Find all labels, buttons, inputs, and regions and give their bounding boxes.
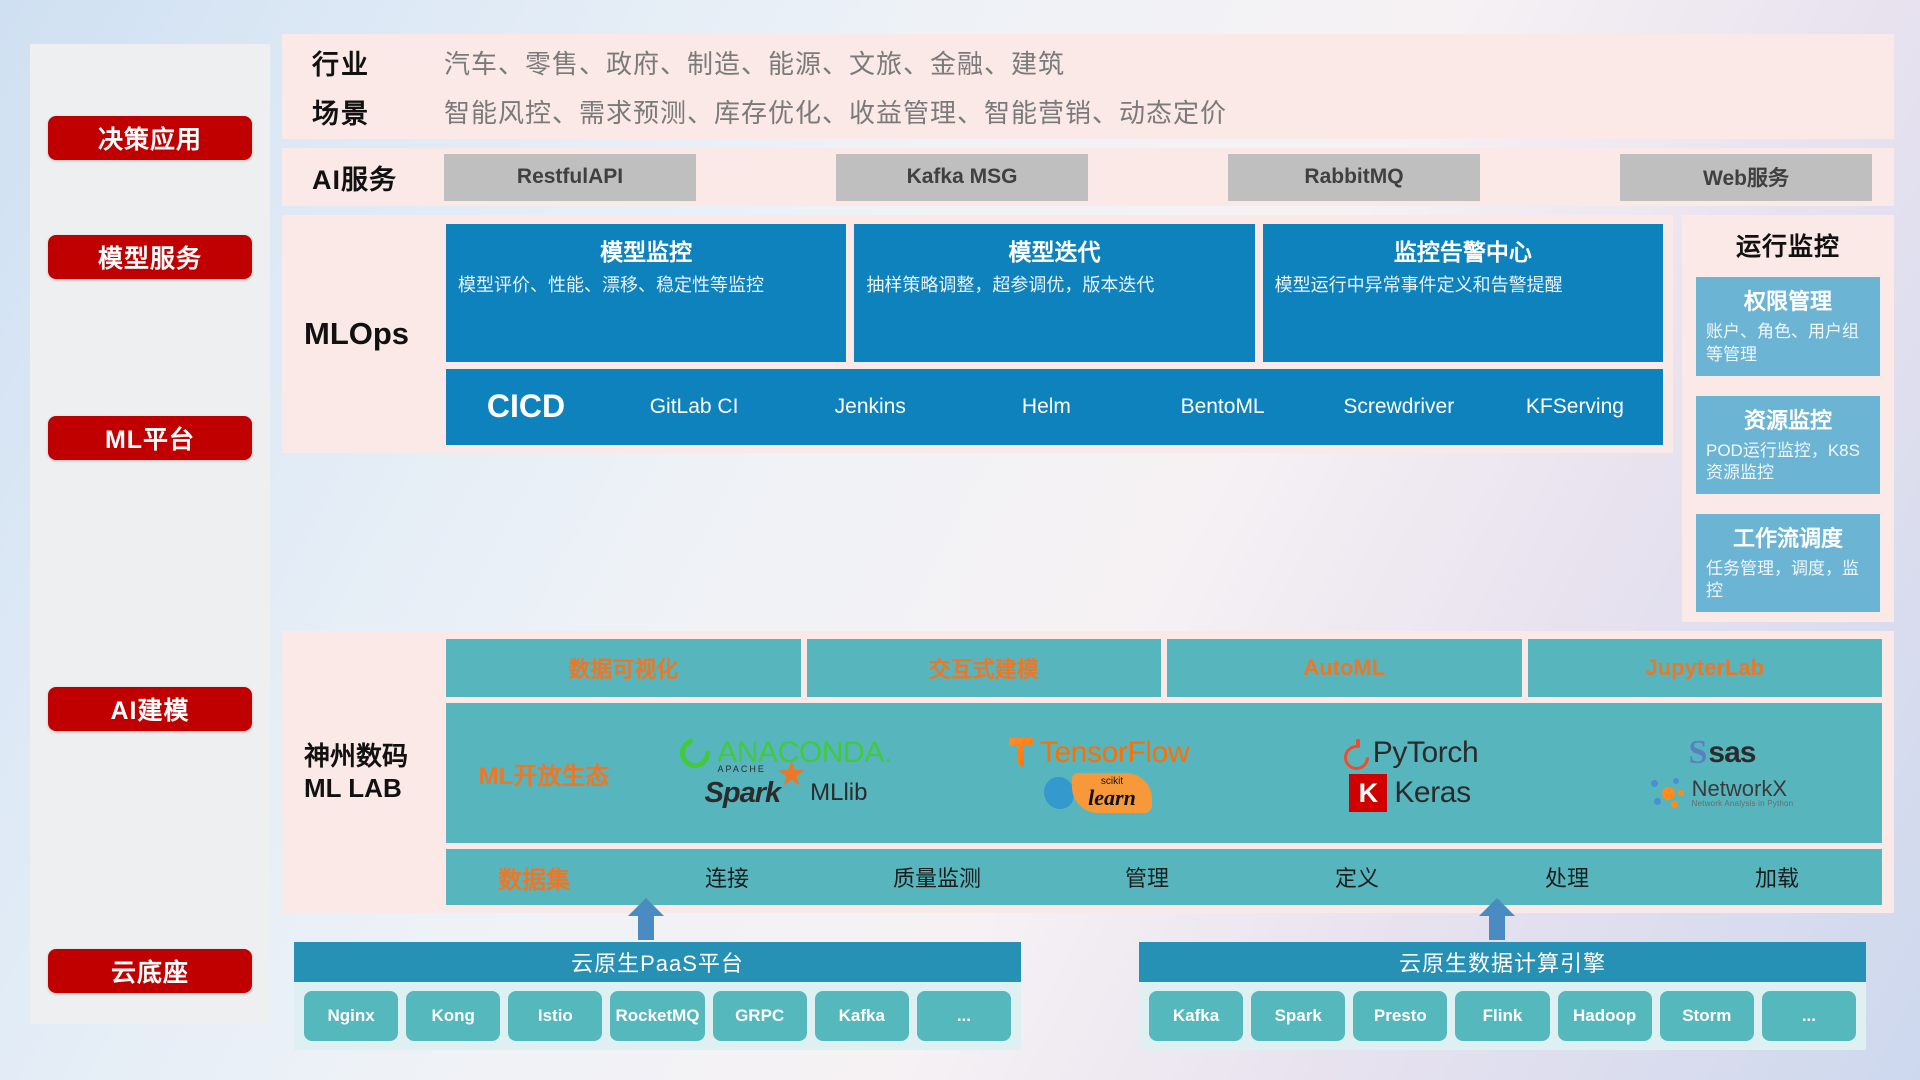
- cicd-item-kfserving[interactable]: KFServing: [1487, 395, 1663, 419]
- cicd-item-list: GitLab CI Jenkins Helm BentoML Screwdriv…: [606, 395, 1663, 419]
- stage-rail: 决策应用 模型服务 ML平台 AI建模 云底座: [30, 44, 270, 1024]
- paas-chip-more[interactable]: ...: [917, 991, 1011, 1041]
- mlops-card-model-monitoring[interactable]: 模型监控 模型评价、性能、漂移、稳定性等监控: [446, 224, 846, 362]
- card-title: 模型监控: [458, 233, 834, 267]
- cloud-foundation-band: 云原生PaaS平台 Nginx Kong Istio RocketMQ GRPC…: [282, 938, 1894, 1050]
- dataset-item-list: 连接 质量监测 管理 定义 处理 加载: [622, 861, 1882, 893]
- stage-label: AI建模: [110, 691, 189, 727]
- engine-chip-presto[interactable]: Presto: [1353, 991, 1447, 1041]
- mlops-content: 模型监控 模型评价、性能、漂移、稳定性等监控 模型迭代 抽样策略调整，超参调优，…: [446, 224, 1663, 445]
- stage-chip-ml-platform[interactable]: ML平台: [48, 416, 252, 460]
- tool-chip-jupyterlab[interactable]: JupyterLab: [1528, 639, 1883, 697]
- scikit-pill-icon: scikit learn: [1072, 773, 1152, 813]
- scikit-learn-logo: scikit learn: [1044, 773, 1152, 813]
- mlops-card-alert-center[interactable]: 监控告警中心 模型运行中异常事件定义和告警提醒: [1263, 224, 1663, 362]
- stage-label: 云底座: [111, 953, 189, 989]
- engine-chip-storm[interactable]: Storm: [1660, 991, 1754, 1041]
- mlops-card-list: 模型监控 模型评价、性能、漂移、稳定性等监控 模型迭代 抽样策略调整，超参调优，…: [446, 224, 1663, 362]
- scenario-row: 场景 智能风控、需求预测、库存优化、收益管理、智能营销、动态定价: [312, 92, 1866, 131]
- modeling-content: 数据可视化 交互式建模 AutoML JupyterLab ML开放生态 ANA…: [446, 639, 1882, 905]
- service-chip-web-service[interactable]: Web服务: [1620, 154, 1872, 201]
- ml-ecosystem-label: ML开放生态: [456, 756, 632, 791]
- mlops-label: MLOps: [304, 316, 446, 352]
- cicd-item-jenkins[interactable]: Jenkins: [782, 395, 958, 419]
- ml-lab-line2: ML LAB: [304, 772, 446, 804]
- service-chip-restfulapi[interactable]: RestfulAPI: [444, 154, 696, 201]
- card-desc: 账户、角色、用户组等管理: [1706, 321, 1870, 365]
- card-title: 工作流调度: [1706, 521, 1870, 553]
- card-title: 资源监控: [1706, 403, 1870, 435]
- tool-chip-data-visualization[interactable]: 数据可视化: [446, 639, 801, 697]
- stage-label: 决策应用: [98, 120, 202, 156]
- cicd-item-screwdriver[interactable]: Screwdriver: [1311, 395, 1487, 419]
- paas-chip-list: Nginx Kong Istio RocketMQ GRPC Kafka ...: [294, 982, 1021, 1050]
- paas-chip-kafka[interactable]: Kafka: [815, 991, 909, 1041]
- pytorch-wordmark: PyTorch: [1373, 736, 1479, 770]
- tool-chip-automl[interactable]: AutoML: [1167, 639, 1522, 697]
- paas-chip-grpc[interactable]: GRPC: [713, 991, 807, 1041]
- keras-wordmark: Keras: [1394, 776, 1470, 810]
- monitoring-title: 运行监控: [1696, 227, 1880, 263]
- card-desc: 抽样策略调整，超参调优，版本迭代: [866, 274, 1242, 298]
- ml-platform-band: MLOps 模型监控 模型评价、性能、漂移、稳定性等监控 模型迭代 抽样策略调整…: [282, 215, 1894, 622]
- paas-chip-istio[interactable]: Istio: [508, 991, 602, 1041]
- architecture-diagram: 决策应用 模型服务 ML平台 AI建模 云底座 行业 汽车、零售、政府、制造、能…: [0, 0, 1920, 1080]
- paas-platform-block: 云原生PaaS平台 Nginx Kong Istio RocketMQ GRPC…: [294, 942, 1021, 1050]
- cicd-label: CICD: [446, 388, 606, 425]
- paas-chip-kong[interactable]: Kong: [406, 991, 500, 1041]
- card-title: 模型迭代: [866, 233, 1242, 267]
- mlops-section: MLOps 模型监控 模型评价、性能、漂移、稳定性等监控 模型迭代 抽样策略调整…: [282, 215, 1673, 453]
- decision-apps-band: 行业 汽车、零售、政府、制造、能源、文旅、金融、建筑 场景 智能风控、需求预测、…: [282, 34, 1894, 139]
- dataset-item-load[interactable]: 加载: [1672, 861, 1882, 893]
- networkx-text: NetworkX Network Analysis in Python: [1692, 778, 1794, 808]
- data-engine-chip-list: Kafka Spark Presto Flink Hadoop Storm ..…: [1139, 982, 1866, 1050]
- ml-ecosystem-row: ML开放生态 ANACONDA. TensorFlow PyTorc: [446, 703, 1882, 843]
- card-desc: POD运行监控，K8S资源监控: [1706, 440, 1870, 484]
- scenario-values: 智能风控、需求预测、库存优化、收益管理、智能营销、动态定价: [444, 93, 1227, 130]
- dataset-row: 数据集 连接 质量监测 管理 定义 处理 加载: [446, 849, 1882, 905]
- spark-apache-label: APACHE: [718, 764, 766, 774]
- card-title: 监控告警中心: [1275, 233, 1651, 267]
- industry-label: 行业: [312, 43, 444, 82]
- monitor-card-workflow[interactable]: 工作流调度 任务管理，调度，监控: [1696, 514, 1880, 612]
- engine-chip-hadoop[interactable]: Hadoop: [1558, 991, 1652, 1041]
- keras-k-icon: K: [1349, 774, 1387, 812]
- networkx-wordmark: NetworkX: [1692, 778, 1794, 800]
- dataset-item-quality-monitor[interactable]: 质量监测: [832, 861, 1042, 893]
- sas-wordmark: sas: [1708, 736, 1755, 770]
- mllib-wordmark: MLlib: [810, 779, 867, 807]
- mlops-card-model-iteration[interactable]: 模型迭代 抽样策略调整，超参调优，版本迭代: [854, 224, 1254, 362]
- sas-logo: S sas: [1689, 736, 1756, 770]
- stage-chip-decision-apps[interactable]: 决策应用: [48, 116, 252, 160]
- ml-lab-label: 神州数码 ML LAB: [304, 740, 446, 804]
- card-desc: 模型运行中异常事件定义和告警提醒: [1275, 274, 1651, 298]
- networkx-tagline: Network Analysis in Python: [1692, 800, 1794, 808]
- runtime-monitoring-rail: 运行监控 权限管理 账户、角色、用户组等管理 资源监控 POD运行监控，K8S资…: [1682, 215, 1894, 622]
- engine-chip-kafka[interactable]: Kafka: [1149, 991, 1243, 1041]
- paas-chip-nginx[interactable]: Nginx: [304, 991, 398, 1041]
- learn-wordmark: learn: [1088, 787, 1136, 809]
- main-column: 行业 汽车、零售、政府、制造、能源、文旅、金融、建筑 场景 智能风控、需求预测、…: [282, 34, 1894, 1050]
- dataset-item-manage[interactable]: 管理: [1042, 861, 1252, 893]
- tensorflow-logo: TensorFlow: [1007, 736, 1189, 770]
- pytorch-logo: PyTorch: [1342, 736, 1479, 770]
- cicd-item-bentoml[interactable]: BentoML: [1135, 395, 1311, 419]
- tool-chip-interactive-modeling[interactable]: 交互式建模: [807, 639, 1162, 697]
- ecosystem-logo-grid: ANACONDA. TensorFlow PyTorch S sa: [632, 733, 1876, 813]
- dataset-label: 数据集: [446, 860, 622, 895]
- stage-label: 模型服务: [98, 239, 202, 275]
- networkx-logo: NetworkX Network Analysis in Python: [1651, 778, 1794, 808]
- cicd-bar: CICD GitLab CI Jenkins Helm BentoML Scre…: [446, 369, 1663, 445]
- paas-platform-title: 云原生PaaS平台: [294, 942, 1021, 982]
- keras-logo: K Keras: [1349, 774, 1470, 812]
- dataset-item-process[interactable]: 处理: [1462, 861, 1672, 893]
- chip-label: RabbitMQ: [1304, 165, 1403, 189]
- dataset-item-connect[interactable]: 连接: [622, 861, 832, 893]
- data-engine-up-arrow-icon: [1477, 898, 1517, 940]
- spark-wordmark: Spark: [705, 777, 781, 810]
- spark-mllib-logo: APACHE Spark MLlib: [705, 777, 868, 810]
- networkx-graph-icon: [1651, 778, 1685, 808]
- dataset-item-define[interactable]: 定义: [1252, 861, 1462, 893]
- data-engine-title: 云原生数据计算引擎: [1139, 942, 1866, 982]
- industry-values: 汽车、零售、政府、制造、能源、文旅、金融、建筑: [444, 44, 1065, 81]
- anaconda-ring-icon: [674, 732, 716, 774]
- service-chip-kafka-msg[interactable]: Kafka MSG: [836, 154, 1088, 201]
- stage-chip-model-service[interactable]: 模型服务: [48, 235, 252, 279]
- scikit-blob-icon: [1044, 777, 1074, 809]
- ai-service-band: AI服务 RestfulAPI Kafka MSG RabbitMQ Web服务: [282, 148, 1894, 206]
- monitor-card-resource[interactable]: 资源监控 POD运行监控，K8S资源监控: [1696, 396, 1880, 494]
- sas-swirl-icon: S: [1689, 739, 1708, 766]
- engine-chip-flink[interactable]: Flink: [1455, 991, 1549, 1041]
- card-desc: 模型评价、性能、漂移、稳定性等监控: [458, 274, 834, 298]
- stage-label: ML平台: [105, 420, 195, 456]
- modeling-tool-list: 数据可视化 交互式建模 AutoML JupyterLab: [446, 639, 1882, 697]
- engine-chip-spark[interactable]: Spark: [1251, 991, 1345, 1041]
- paas-up-arrow-icon: [626, 898, 666, 940]
- chip-label: RestfulAPI: [517, 165, 623, 189]
- ai-service-chip-list: RestfulAPI Kafka MSG RabbitMQ Web服务: [444, 154, 1872, 201]
- cicd-item-gitlab-ci[interactable]: GitLab CI: [606, 395, 782, 419]
- ai-modeling-band: 神州数码 ML LAB 数据可视化 交互式建模 AutoML JupyterLa…: [282, 631, 1894, 913]
- data-engine-block: 云原生数据计算引擎 Kafka Spark Presto Flink Hadoo…: [1139, 942, 1866, 1050]
- tensorflow-mark-icon: [1007, 738, 1033, 768]
- ai-service-label: AI服务: [312, 158, 444, 197]
- scenario-label: 场景: [312, 92, 444, 131]
- industry-row: 行业 汽车、零售、政府、制造、能源、文旅、金融、建筑: [312, 43, 1866, 82]
- engine-chip-more[interactable]: ...: [1762, 991, 1856, 1041]
- stage-chip-cloud-foundation[interactable]: 云底座: [48, 949, 252, 993]
- cicd-item-helm[interactable]: Helm: [958, 395, 1134, 419]
- ml-lab-line1: 神州数码: [304, 740, 446, 772]
- chip-label: Kafka MSG: [907, 165, 1018, 189]
- card-title: 权限管理: [1706, 284, 1870, 316]
- chip-label: Web服务: [1703, 162, 1789, 192]
- anaconda-logo: ANACONDA.: [680, 736, 892, 770]
- card-desc: 任务管理，调度，监控: [1706, 558, 1870, 602]
- tensorflow-wordmark: TensorFlow: [1040, 736, 1189, 770]
- paas-chip-rocketmq[interactable]: RocketMQ: [610, 991, 704, 1041]
- stage-chip-ai-modeling[interactable]: AI建模: [48, 687, 252, 731]
- pytorch-flame-icon: [1342, 739, 1366, 767]
- service-chip-rabbitmq[interactable]: RabbitMQ: [1228, 154, 1480, 201]
- monitor-card-permission[interactable]: 权限管理 账户、角色、用户组等管理: [1696, 277, 1880, 375]
